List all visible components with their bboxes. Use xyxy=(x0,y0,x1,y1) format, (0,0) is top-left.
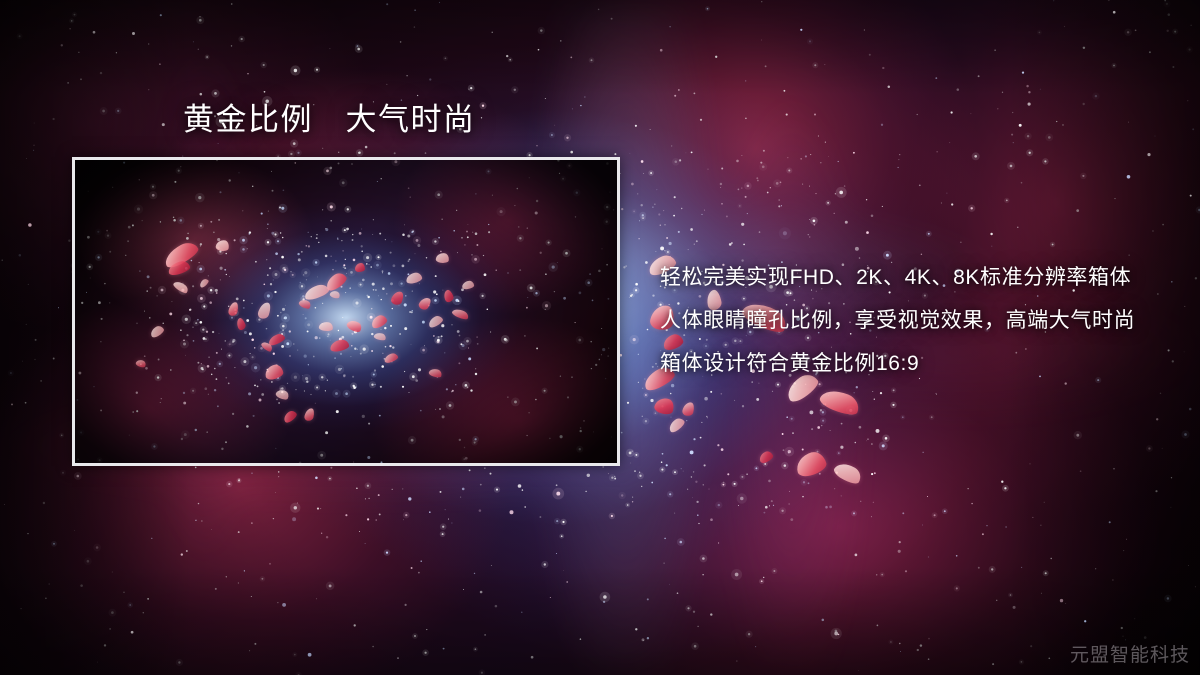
flower-petal xyxy=(462,280,475,290)
flower-petal xyxy=(298,298,312,311)
flower-petal xyxy=(267,332,286,347)
flower-petal xyxy=(405,271,423,284)
flower-petal xyxy=(383,352,399,364)
flower-petal xyxy=(228,301,240,317)
photo-petal-group xyxy=(75,160,617,463)
flower-petal xyxy=(282,409,299,424)
flower-petal xyxy=(818,385,863,419)
body-line-2: 人体眼睛瞳孔比例，享受视觉效果，高端大气时尚 xyxy=(660,299,1180,342)
flower-petal xyxy=(215,239,230,252)
flower-petal xyxy=(355,263,365,272)
flower-petal xyxy=(323,270,349,293)
flower-petal xyxy=(428,367,443,379)
flower-petal xyxy=(373,331,386,341)
flower-petal xyxy=(794,449,829,478)
flower-petal xyxy=(451,307,470,321)
flower-petal xyxy=(758,450,775,465)
flower-petal xyxy=(369,313,388,330)
flower-petal xyxy=(435,252,449,264)
flower-petal xyxy=(135,358,147,368)
flower-petal xyxy=(260,340,274,353)
flower-petal xyxy=(329,290,341,300)
flower-petal xyxy=(264,363,285,380)
flower-petal xyxy=(167,259,191,276)
flower-petal xyxy=(149,324,166,339)
flower-petal xyxy=(653,395,676,416)
framed-photo-panel xyxy=(72,157,620,466)
flower-petal xyxy=(442,289,455,303)
watermark-label: 元盟智能科技 xyxy=(1070,640,1190,667)
flower-petal xyxy=(329,338,350,352)
flower-petal xyxy=(303,282,330,301)
flower-petal xyxy=(390,289,405,306)
body-line-1: 轻松完美实现FHD、2K、4K、8K标准分辨率箱体 xyxy=(660,256,1180,299)
flower-petal xyxy=(318,321,333,332)
flower-petal xyxy=(681,401,695,417)
flower-petal xyxy=(417,295,433,311)
presentation-slide: 黄金比例 大气时尚 轻松完美实现FHD、2K、4K、8K标准分辨率箱体 人体眼睛… xyxy=(0,0,1200,675)
flower-petal xyxy=(198,277,210,288)
flower-petal xyxy=(172,279,190,295)
page-title: 黄金比例 大气时尚 xyxy=(183,101,476,140)
flower-petal xyxy=(275,388,291,402)
flower-petal xyxy=(257,301,273,321)
body-line-3: 箱体设计符合黄金比例16:9 xyxy=(660,342,1180,385)
flower-petal xyxy=(427,314,444,329)
flower-petal xyxy=(304,407,316,422)
body-copy-block: 轻松完美实现FHD、2K、4K、8K标准分辨率箱体 人体眼睛瞳孔比例，享受视觉效… xyxy=(660,256,1180,385)
flower-petal xyxy=(832,459,864,487)
flower-petal xyxy=(161,239,201,271)
flower-petal xyxy=(346,318,364,334)
flower-petal xyxy=(667,416,687,434)
flower-petal xyxy=(235,317,247,331)
